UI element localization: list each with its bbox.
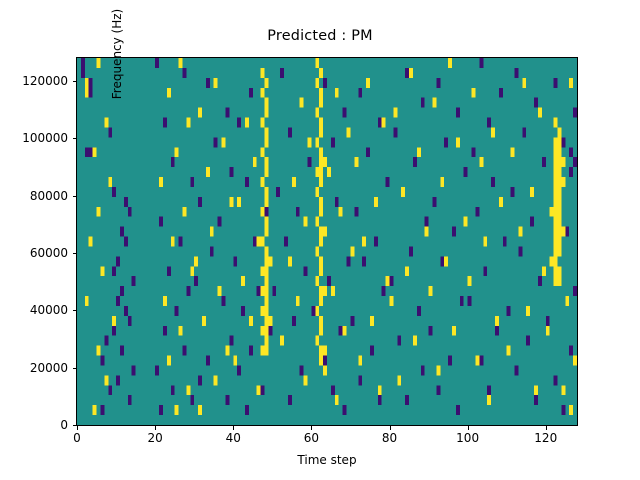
x-tick-mark: [233, 426, 234, 430]
x-tick-mark: [546, 426, 547, 430]
y-tick-label: 120000: [0, 74, 68, 88]
x-tick-mark: [390, 426, 391, 430]
x-tick-label: 120: [534, 431, 557, 445]
x-tick-label: 60: [304, 431, 319, 445]
x-tick-label: 100: [456, 431, 479, 445]
y-tick-label: 0: [0, 418, 68, 432]
y-tick-mark: [73, 368, 77, 369]
x-tick-mark: [77, 426, 78, 430]
matplotlib-figure: Predicted : PM 020406080100120 020000400…: [0, 0, 640, 480]
y-tick-mark: [73, 425, 77, 426]
x-tick-label: 20: [147, 431, 162, 445]
x-tick-mark: [311, 426, 312, 430]
chart-title: Predicted : PM: [0, 28, 640, 44]
y-tick-mark: [73, 310, 77, 311]
y-axis-label: Frequency (Hz): [110, 0, 124, 249]
x-tick-mark: [155, 426, 156, 430]
x-tick-label: 40: [226, 431, 241, 445]
y-tick-label: 80000: [0, 189, 68, 203]
y-tick-label: 40000: [0, 303, 68, 317]
y-tick-mark: [73, 196, 77, 197]
y-tick-mark: [73, 138, 77, 139]
x-tick-label: 0: [73, 431, 81, 445]
y-tick-label: 60000: [0, 246, 68, 260]
y-tick-label: 100000: [0, 131, 68, 145]
y-tick-mark: [73, 253, 77, 254]
y-tick-mark: [73, 81, 77, 82]
y-tick-label: 20000: [0, 361, 68, 375]
x-tick-mark: [468, 426, 469, 430]
x-tick-label: 80: [382, 431, 397, 445]
heatmap-axes: [76, 57, 578, 426]
x-axis-label: Time step: [76, 453, 578, 467]
heatmap-image: [77, 58, 577, 425]
